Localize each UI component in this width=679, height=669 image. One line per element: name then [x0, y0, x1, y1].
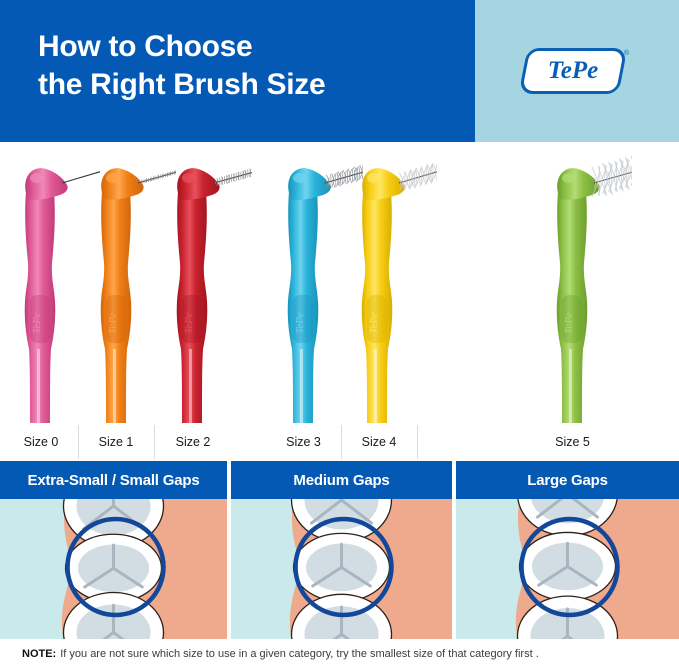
brush-head	[362, 168, 404, 200]
size-divider-0	[78, 425, 79, 459]
bristle-filaments	[399, 159, 437, 190]
tooth-diagram-small	[0, 499, 227, 639]
head-highlight	[182, 173, 196, 183]
page-title-line1: How to Choose	[38, 30, 252, 63]
interdental-brush-4: TePe	[317, 153, 437, 423]
head-highlight	[367, 173, 381, 183]
tooth-diagram-medium	[231, 499, 452, 639]
size-divider-3	[417, 425, 418, 459]
handle-embossed-logo: TePe	[107, 312, 119, 334]
category-label: Extra-Small / Small Gaps	[28, 472, 200, 489]
head-highlight	[562, 173, 576, 183]
handle-embossed-logo: TePe	[294, 312, 306, 334]
size-label-4: Size 4	[341, 423, 417, 461]
handle-embossed-logo: TePe	[368, 312, 380, 334]
registered-trademark-icon: ®	[624, 50, 629, 57]
size-label-text: Size 2	[176, 435, 211, 449]
gum-tissue-right	[386, 499, 453, 639]
page-title: How to Choose the Right Brush Size	[38, 28, 325, 103]
category-bar: Extra-Small / Small GapsMedium GapsLarge…	[0, 461, 679, 499]
tooth-diagram-large	[456, 499, 679, 639]
size-divider-1	[154, 425, 155, 459]
shaft-gloss	[189, 349, 192, 423]
header: How to Choose the Right Brush Size TePe …	[0, 0, 679, 142]
size-label-text: Size 4	[362, 435, 397, 449]
tooth-middle	[520, 532, 616, 600]
gum-tissue-right	[612, 499, 679, 639]
size-label-text: Size 3	[286, 435, 321, 449]
size-label-text: Size 0	[24, 435, 59, 449]
handle-embossed-logo: TePe	[31, 312, 43, 334]
category-label: Medium Gaps	[293, 472, 389, 489]
size-label-3: Size 3	[266, 423, 341, 461]
head-highlight	[30, 173, 44, 183]
category-large: Large Gaps	[456, 461, 679, 499]
note-prefix: NOTE:	[22, 648, 56, 660]
brush-head	[557, 168, 599, 200]
brush-head	[177, 168, 219, 200]
gum-tissue-right	[158, 499, 228, 639]
size-label-row: Size 0Size 1Size 2Size 3Size 4Size 5	[0, 423, 679, 461]
head-highlight	[106, 173, 120, 183]
interdental-brush-2: TePe	[132, 153, 252, 423]
tooth-diagram-row	[0, 499, 679, 639]
shaft-gloss	[300, 349, 303, 423]
footer-note: NOTE: If you are not sure which size to …	[0, 639, 679, 669]
size-divider-2	[341, 425, 342, 459]
size-label-0: Size 0	[4, 423, 78, 461]
category-small: Extra-Small / Small Gaps	[0, 461, 227, 499]
tepe-logo: TePe ®	[523, 48, 629, 98]
shaft-gloss	[569, 349, 572, 423]
logo-wordmark: TePe	[523, 48, 623, 94]
brush-lineup: TePeTePeTePeTePeTePeTePe	[0, 142, 679, 423]
interdental-brush-5: TePe	[512, 153, 632, 423]
header-title-area: How to Choose the Right Brush Size	[0, 0, 475, 142]
size-label-text: Size 5	[555, 435, 590, 449]
category-label: Large Gaps	[527, 472, 608, 489]
header-logo-area: TePe ®	[475, 0, 679, 142]
page-title-line2: the Right Brush Size	[38, 66, 325, 104]
shaft-gloss	[37, 349, 40, 423]
tooth-middle	[294, 533, 390, 601]
size-label-1: Size 1	[78, 423, 154, 461]
category-medium: Medium Gaps	[231, 461, 452, 499]
shaft-gloss	[374, 349, 377, 423]
size-label-2: Size 2	[154, 423, 232, 461]
note-text: If you are not sure which size to use in…	[60, 648, 539, 660]
shaft-gloss	[113, 349, 116, 423]
handle-embossed-logo: TePe	[183, 312, 195, 334]
size-label-text: Size 1	[99, 435, 134, 449]
head-highlight	[293, 173, 307, 183]
size-label-5: Size 5	[500, 423, 645, 461]
handle-embossed-logo: TePe	[563, 312, 575, 334]
infographic-poster: How to Choose the Right Brush Size TePe …	[0, 0, 679, 669]
